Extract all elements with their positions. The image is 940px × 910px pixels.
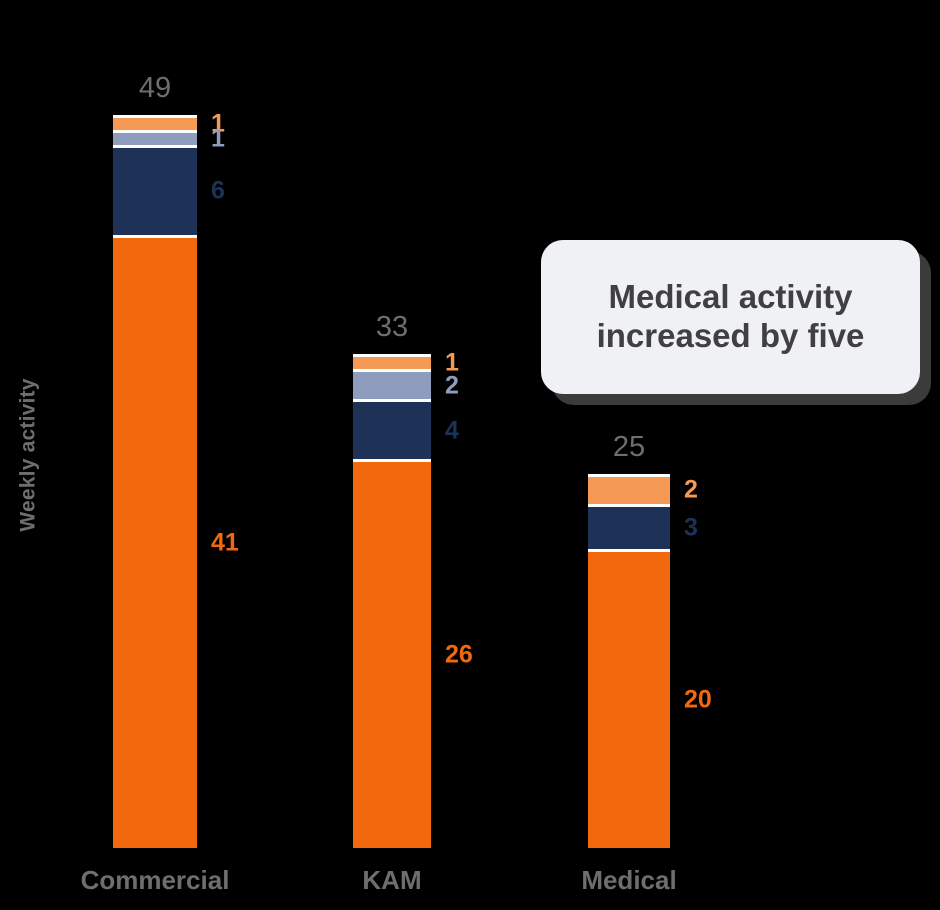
bar-segment[interactable]: 26	[353, 459, 431, 848]
stacked-bar[interactable]: 2320	[588, 474, 670, 848]
x-axis-category-label: Commercial	[68, 865, 242, 896]
bar-segment-value-label: 2	[445, 371, 459, 400]
callout-text-line2: increased by five	[597, 317, 865, 354]
bar-segment-value-label: 1	[211, 124, 225, 153]
bar-total-label: 25	[588, 431, 670, 464]
bar-total-label: 33	[353, 311, 431, 344]
x-axis-category-label: Medical	[543, 865, 715, 896]
bar-segment[interactable]: 41	[113, 235, 197, 848]
bar-segment-value-label: 2	[684, 476, 698, 505]
bar-segment-value-label: 26	[445, 641, 473, 670]
callout-annotation: Medical activity increased by five	[541, 240, 931, 405]
bar-segment[interactable]: 2	[353, 369, 431, 399]
bar-segment[interactable]: 4	[353, 399, 431, 459]
bar-group-medical: 252320Medical	[588, 474, 670, 848]
stacked-bar[interactable]: 12426	[353, 354, 431, 848]
bar-segment[interactable]: 3	[588, 504, 670, 549]
bar-segment-value-label: 4	[445, 416, 459, 445]
bar-segment[interactable]: 1	[113, 130, 197, 145]
bar-segment[interactable]: 1	[113, 115, 197, 130]
bar-segment[interactable]: 6	[113, 145, 197, 235]
bar-group-commercial: 4911641Commercial	[113, 115, 197, 848]
callout-text-line1: Medical activity	[609, 278, 853, 315]
chart-plot-area: 4911641Commercial3312426KAM252320Medical	[0, 0, 940, 910]
stacked-bar[interactable]: 11641	[113, 115, 197, 848]
bar-segment-value-label: 20	[684, 685, 712, 714]
bar-segment[interactable]: 1	[353, 354, 431, 369]
x-axis-category-label: KAM	[308, 865, 476, 896]
bar-segment[interactable]: 20	[588, 549, 670, 848]
bar-group-kam: 3312426KAM	[353, 354, 431, 848]
callout-box: Medical activity increased by five	[541, 240, 920, 394]
bar-segment[interactable]: 2	[588, 474, 670, 504]
callout-text: Medical activity increased by five	[597, 278, 865, 356]
bar-segment-value-label: 6	[211, 177, 225, 206]
bar-segment-value-label: 41	[211, 528, 239, 557]
bar-total-label: 49	[113, 72, 197, 105]
bar-segment-value-label: 3	[684, 513, 698, 542]
